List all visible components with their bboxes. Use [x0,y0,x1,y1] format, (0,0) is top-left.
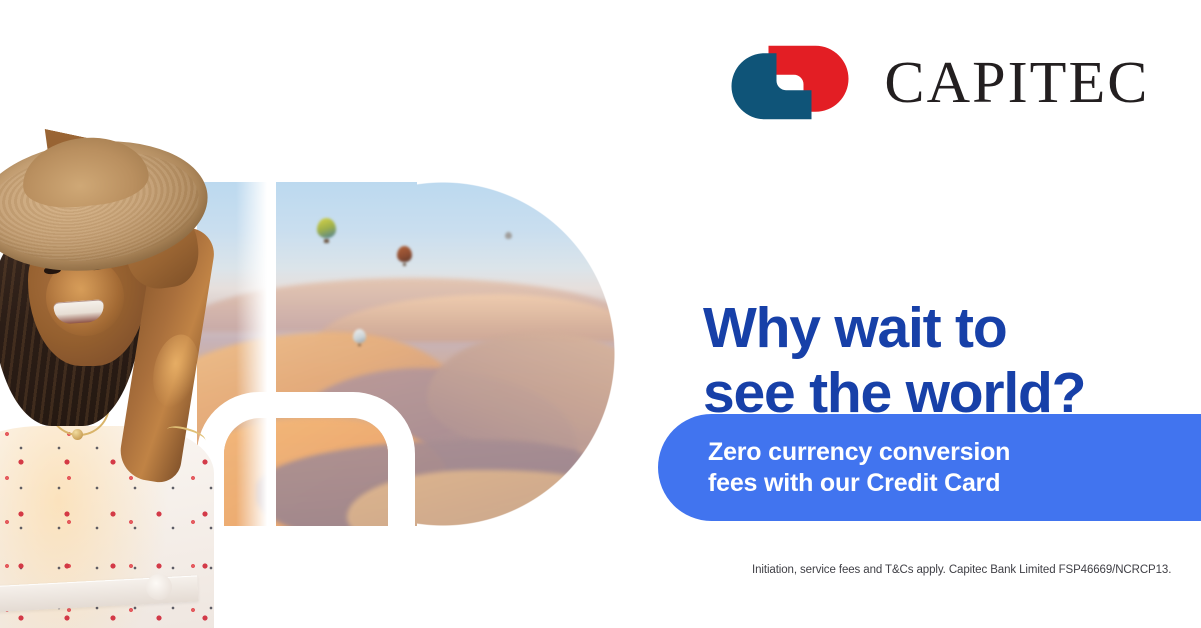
promo-line-1: Zero currency conversion [708,437,1010,468]
page-title: Why wait to see the world? [703,296,1173,425]
hot-air-balloon-icon [353,329,366,347]
promo-banner-text: Zero currency conversion fees with our C… [708,437,1010,499]
hot-air-balloon-icon [397,246,412,267]
advert-canvas: CAPITEC Why wait to see the world? Zero … [0,0,1201,628]
necklace-pendant [72,429,83,440]
model-portrait [0,138,276,628]
hot-air-balloon-icon [505,232,512,241]
capitec-logo[interactable]: CAPITEC [731,45,1147,120]
hero-imagery [0,0,660,628]
headline-line-1: Why wait to [703,296,1173,360]
promo-line-2: fees with our Credit Card [708,468,1010,499]
hot-air-balloon-icon [317,218,336,244]
capitec-wordmark: CAPITEC [884,53,1149,112]
legal-fineprint: Initiation, service fees and T&Cs apply.… [752,564,1182,576]
capitec-logo-mark [731,45,849,120]
promo-banner[interactable]: Zero currency conversion fees with our C… [658,414,1201,521]
